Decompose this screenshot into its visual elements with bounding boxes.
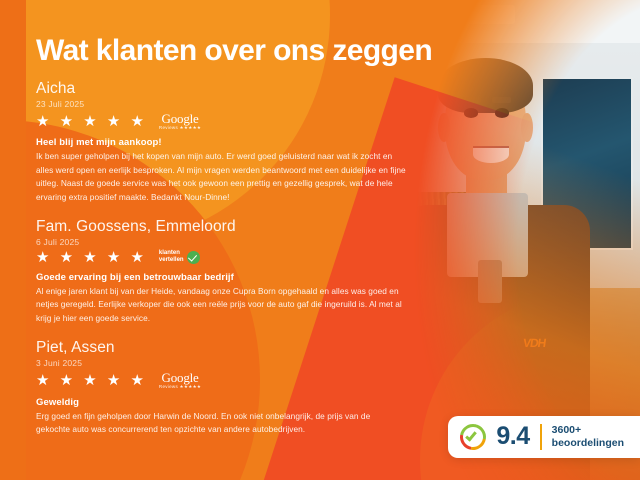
google-reviews-subtext: Reviews ★★★★★ bbox=[159, 126, 201, 131]
review-card: Aicha 23 Juli 2025 ★ ★ ★ ★ ★ Google Revi… bbox=[36, 80, 406, 204]
klantenvertellen-badge[interactable]: klanten vertellen bbox=[159, 250, 200, 264]
score-count-number: 3600+ bbox=[552, 424, 624, 437]
page-title: Wat klanten over ons zeggen bbox=[36, 0, 640, 66]
testimonials-panel: Wat klanten over ons zeggen Aicha 23 Jul… bbox=[0, 0, 640, 436]
klantenvertellen-line2: vertellen bbox=[159, 257, 184, 264]
star-rating-icon: ★ ★ ★ ★ ★ bbox=[36, 373, 147, 388]
google-logo-text: Google bbox=[159, 112, 201, 125]
review-body: Ik ben super geholpen bij het kopen van … bbox=[36, 150, 406, 204]
review-title: Goede ervaring bij een betrouwbaar bedri… bbox=[36, 272, 406, 283]
review-date: 23 Juli 2025 bbox=[36, 99, 406, 109]
review-body: Erg goed en fijn geholpen door Harwin de… bbox=[36, 410, 406, 437]
review-body: Al enige jaren klant bij van der Heide, … bbox=[36, 285, 406, 325]
checkmark-icon bbox=[187, 251, 200, 264]
reviewer-name: Piet, Assen bbox=[36, 339, 406, 357]
star-rating-icon: ★ ★ ★ ★ ★ bbox=[36, 114, 147, 129]
review-title: Heel blij met mijn aankoop! bbox=[36, 137, 406, 148]
review-title: Geweldig bbox=[36, 397, 406, 408]
review-meta: ★ ★ ★ ★ ★ Google Reviews ★★★★★ bbox=[36, 371, 406, 390]
review-date: 3 Juni 2025 bbox=[36, 358, 406, 368]
star-rating-icon: ★ ★ ★ ★ ★ bbox=[36, 250, 147, 265]
google-reviews-subtext: Reviews ★★★★★ bbox=[159, 385, 201, 390]
score-count-label: beoordelingen bbox=[552, 437, 624, 450]
reviewer-name: Fam. Goossens, Emmeloord bbox=[36, 218, 406, 236]
overall-score-badge[interactable]: 9.4 3600+ beoordelingen bbox=[448, 416, 640, 458]
google-logo-text: Google bbox=[159, 371, 201, 384]
google-reviews-badge[interactable]: Google Reviews ★★★★★ bbox=[159, 112, 201, 131]
score-count: 3600+ beoordelingen bbox=[552, 424, 624, 450]
kiyoh-checkmark-icon bbox=[460, 424, 486, 450]
score-divider bbox=[540, 424, 542, 450]
review-meta: ★ ★ ★ ★ ★ Google Reviews ★★★★★ bbox=[36, 112, 406, 131]
reviewer-name: Aicha bbox=[36, 80, 406, 98]
review-meta: ★ ★ ★ ★ ★ klanten vertellen bbox=[36, 250, 406, 265]
score-value: 9.4 bbox=[496, 424, 529, 449]
klantenvertellen-line1: klanten bbox=[159, 250, 184, 257]
review-card: Piet, Assen 3 Juni 2025 ★ ★ ★ ★ ★ Google… bbox=[36, 339, 406, 436]
review-card: Fam. Goossens, Emmeloord 6 Juli 2025 ★ ★… bbox=[36, 218, 406, 325]
review-date: 6 Juli 2025 bbox=[36, 237, 406, 247]
klantenvertellen-label: klanten vertellen bbox=[159, 250, 184, 264]
google-reviews-badge[interactable]: Google Reviews ★★★★★ bbox=[159, 371, 201, 390]
